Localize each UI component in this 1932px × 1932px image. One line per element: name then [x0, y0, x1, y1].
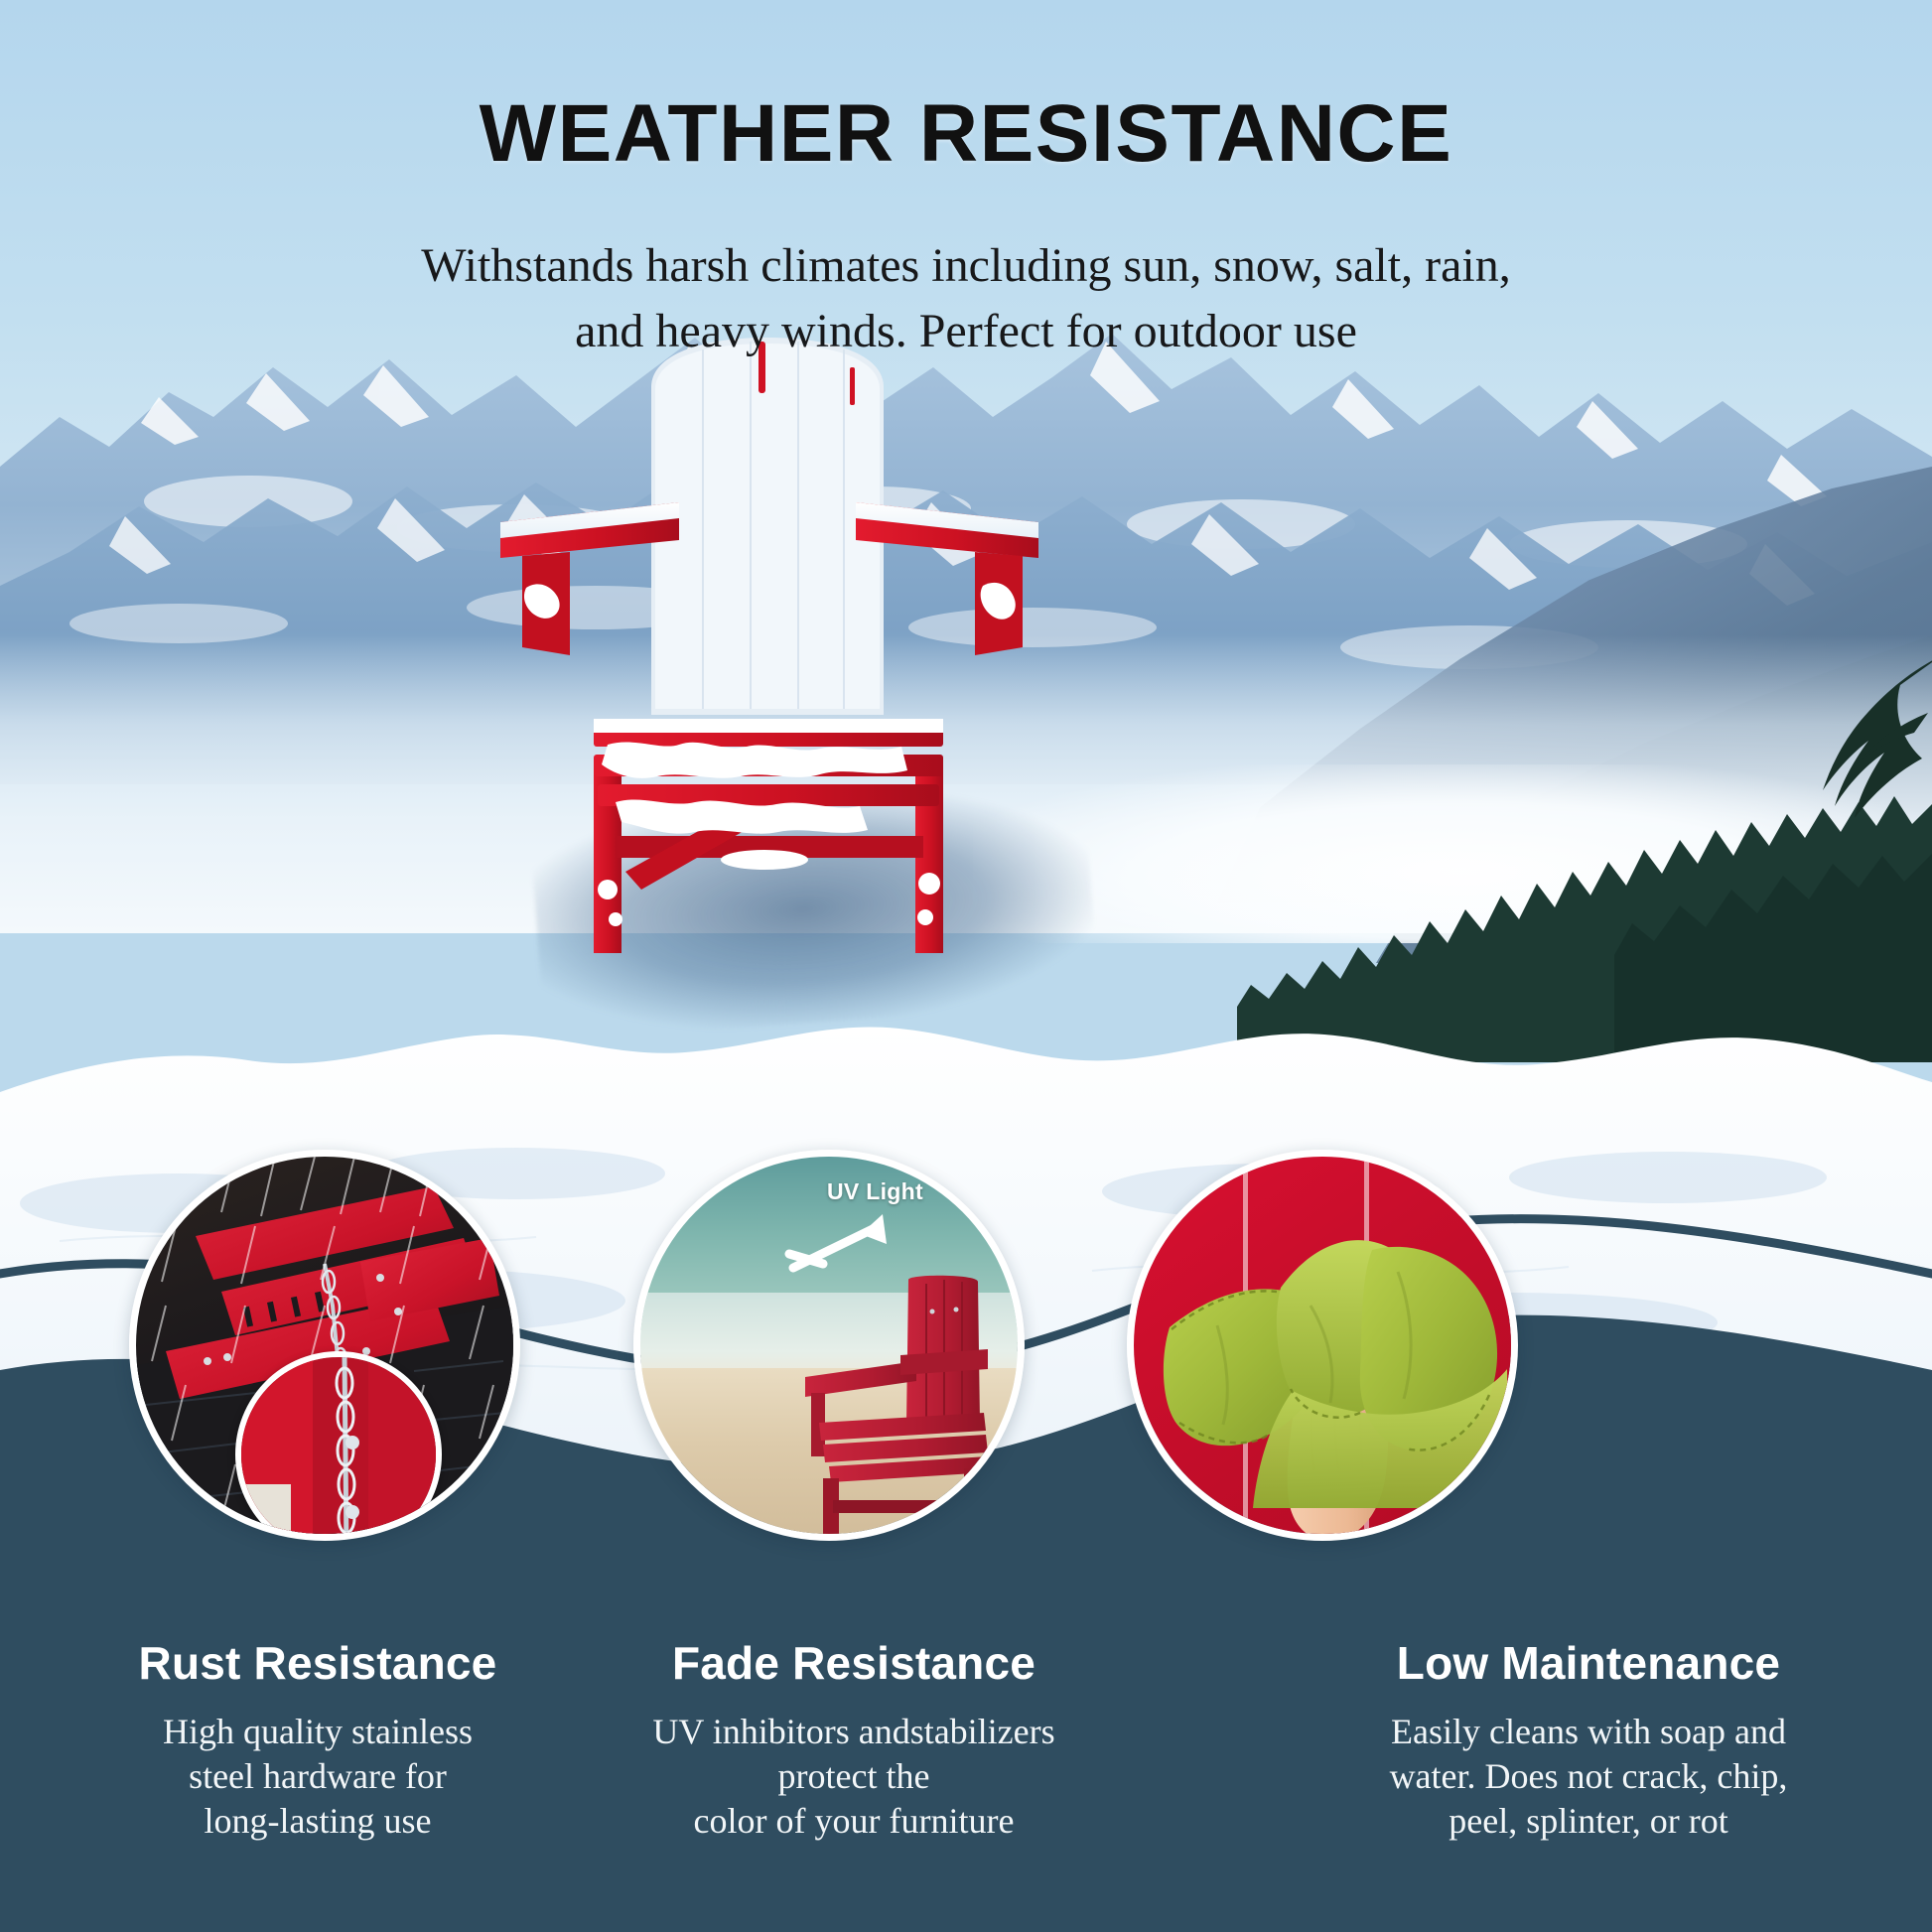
beach-chair-illustration — [789, 1274, 1025, 1541]
feature-title-low-maintenance: Low Maintenance — [1330, 1636, 1847, 1690]
feature-body-fade-resistance: UV inhibitors andstabilizers protect the… — [596, 1710, 1112, 1844]
uv-light-label: UV Light — [827, 1178, 923, 1205]
infographic-canvas: WEATHER RESISTANCE Withstands harsh clim… — [0, 0, 1932, 1932]
feature-body-low-maintenance: Easily cleans with soap and water. Does … — [1330, 1710, 1847, 1844]
hero-chair-image — [467, 328, 1082, 973]
microfiber-cloth-illustration — [1162, 1210, 1509, 1508]
feature-title-fade-resistance: Fade Resistance — [596, 1636, 1112, 1690]
feature-image-low-maintenance — [1127, 1150, 1518, 1541]
feature-image-fade-resistance: UV Light — [633, 1150, 1025, 1541]
feature-body-rust-resistance: High quality stainless steel hardware fo… — [60, 1710, 576, 1844]
subtitle-line-2: and heavy winds. Perfect for outdoor use — [0, 299, 1932, 364]
wave-accent-line — [0, 0, 1932, 298]
feature-image-rust-resistance — [129, 1150, 520, 1541]
feature-title-rust-resistance: Rust Resistance — [60, 1636, 576, 1690]
pine-branch-icon — [1694, 655, 1932, 894]
